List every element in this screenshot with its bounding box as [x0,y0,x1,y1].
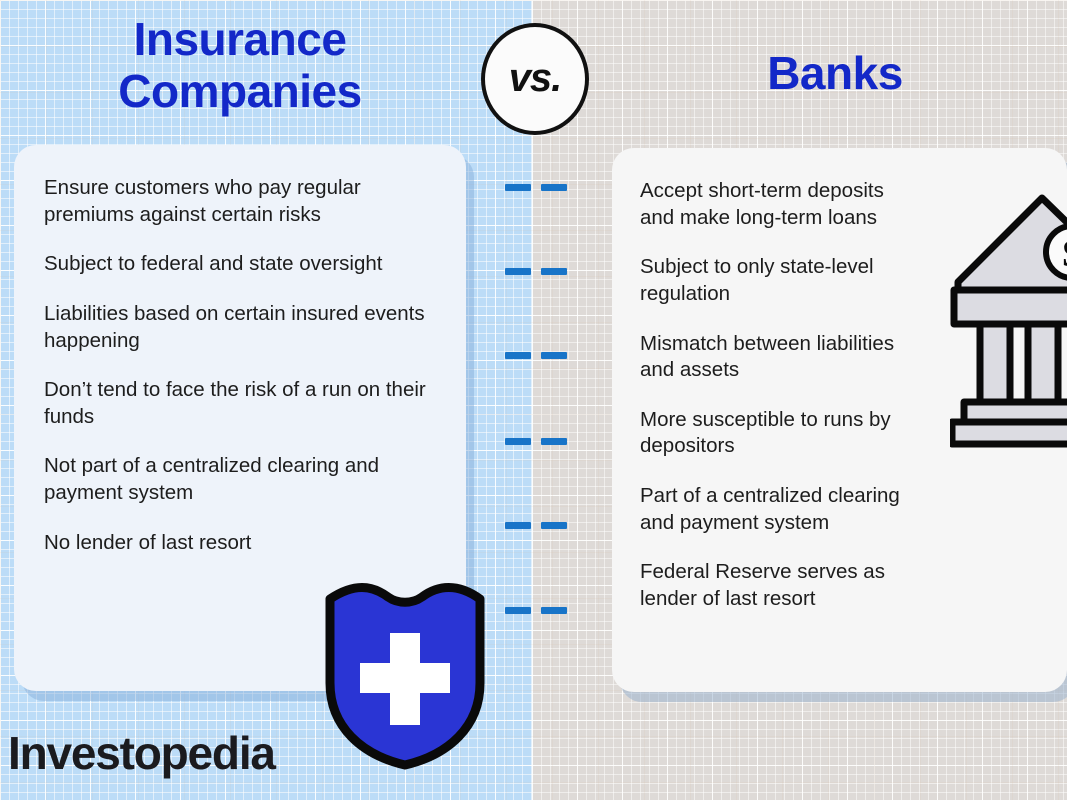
list-item: Accept short-term deposits and make long… [640,178,917,231]
divider-dashes-4 [505,438,567,445]
divider-dashes-3 [505,352,567,359]
list-item: Liabilities based on certain insured eve… [44,301,434,354]
list-item: Not part of a centralized clearing and p… [44,453,434,506]
dash-mark [541,268,567,275]
dollar-coin-symbol: $ [1063,233,1067,275]
divider-dashes-6 [505,607,567,614]
shield-plus-icon [320,575,490,770]
insurance-companies-list: Ensure customers who pay regular premium… [14,145,466,556]
left-column-title-line1: Insurance [30,14,450,66]
left-column-title-line2: Companies [30,66,450,118]
bank-building-icon: $ [950,190,1067,450]
dash-mark [505,268,531,275]
dash-mark [505,352,531,359]
list-item: No lender of last resort [44,530,434,557]
dash-mark [541,607,567,614]
investopedia-logo: Investopedia [8,726,275,780]
list-item: Part of a centralized clearing and payme… [640,483,917,536]
dash-mark [505,438,531,445]
divider-dashes-1 [505,184,567,191]
list-item: Subject to only state-level regulation [640,254,917,307]
versus-badge: vs. [481,23,589,135]
dash-mark [505,522,531,529]
list-item: Ensure customers who pay regular premium… [44,175,434,228]
list-item: Subject to federal and state oversight [44,251,434,278]
dash-mark [541,184,567,191]
dash-mark [505,607,531,614]
divider-dashes-2 [505,268,567,275]
dash-mark [541,522,567,529]
dash-mark [541,438,567,445]
list-item: More susceptible to runs by depositors [640,407,917,460]
list-item: Mismatch between liabilities and assets [640,331,917,384]
divider-dashes-5 [505,522,567,529]
list-item: Federal Reserve serves as lender of last… [640,559,917,612]
dash-mark [505,184,531,191]
right-column-title: Banks [625,48,1045,100]
dash-mark [541,352,567,359]
list-item: Don’t tend to face the risk of a run on … [44,377,434,430]
versus-label: vs. [509,56,562,101]
left-column-title: Insurance Companies [30,14,450,117]
infographic-canvas: Insurance Companies vs. Banks Ensure cus… [0,0,1067,800]
